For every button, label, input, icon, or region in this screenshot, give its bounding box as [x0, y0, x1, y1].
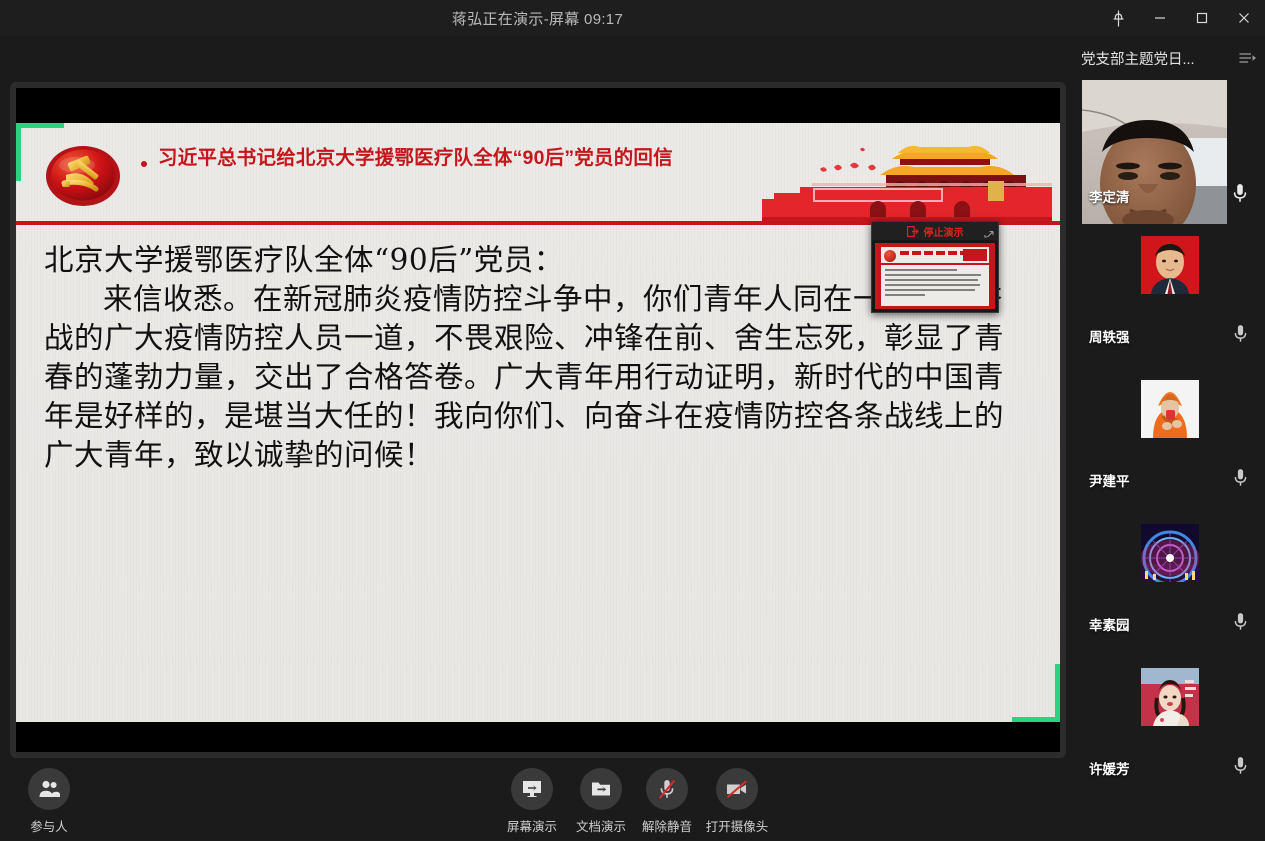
- microphone-icon: [1234, 324, 1247, 348]
- list-menu-icon[interactable]: [1235, 52, 1257, 64]
- microphone-icon: [1234, 612, 1247, 636]
- screen-share-icon: [511, 768, 553, 810]
- avatar: [1141, 524, 1199, 582]
- participant-name: 周轶强: [1089, 326, 1130, 346]
- participant-tile[interactable]: 李定清: [1075, 80, 1265, 224]
- meeting-window: 蒋弘正在演示-屏幕 09:17: [0, 0, 1265, 841]
- participant-panel: 党支部主题党日...: [1075, 36, 1265, 841]
- participant-name: 幸素园: [1089, 614, 1130, 634]
- participant-name: 李定清: [1089, 186, 1130, 206]
- thumbnail-divider: [881, 263, 989, 265]
- stop-share-bar[interactable]: 停止演示: [872, 222, 998, 240]
- avatar: [1141, 668, 1199, 726]
- letterbox-bottom: [16, 722, 1060, 752]
- thumbnail-title: [900, 251, 963, 255]
- thumbnail-text-lines: [885, 269, 985, 299]
- exit-share-icon: [907, 226, 919, 237]
- shared-screen-stage: 习近平总书记给北京大学援鄂医疗队全体“90后”党员的回信 北京大学援鄂医疗队全体…: [10, 82, 1066, 758]
- presentation-slide: 习近平总书记给北京大学援鄂医疗队全体“90后”党员的回信 北京大学援鄂医疗队全体…: [16, 123, 1060, 722]
- window-title: 蒋弘正在演示-屏幕 09:17: [0, 0, 1075, 36]
- microphone-icon: [1234, 468, 1247, 492]
- party-emblem-icon: [44, 145, 122, 207]
- microphone-muted-icon: [646, 768, 688, 810]
- title-bar: 蒋弘正在演示-屏幕 09:17: [0, 0, 1265, 36]
- participant-tile[interactable]: 尹建平: [1075, 368, 1265, 512]
- stop-share-widget[interactable]: 停止演示: [871, 221, 999, 313]
- stop-share-label: 停止演示: [924, 224, 964, 239]
- camera-off-icon: [716, 768, 758, 810]
- minimize-icon[interactable]: [1149, 7, 1171, 29]
- avatar: [1141, 236, 1199, 294]
- participants-label: 参与人: [30, 816, 68, 835]
- slide-header: 习近平总书记给北京大学援鄂医疗队全体“90后”党员的回信: [16, 123, 1060, 225]
- thumbnail-illustration: [963, 249, 987, 261]
- maximize-icon[interactable]: [1191, 7, 1213, 29]
- participant-tile[interactable]: 周轶强: [1075, 224, 1265, 368]
- meeting-toolbar: 参与人 屏幕演示 文档演示: [0, 758, 1075, 841]
- share-thumbnail: [875, 243, 995, 309]
- tiananmen-illustration: [722, 131, 1052, 223]
- participant-name: 许媛芳: [1089, 758, 1130, 778]
- thumbnail-emblem-icon: [884, 250, 896, 262]
- folder-share-icon: [580, 768, 622, 810]
- people-icon: [28, 768, 70, 810]
- avatar: [1141, 380, 1199, 438]
- shared-content: 习近平总书记给北京大学援鄂医疗队全体“90后”党员的回信 北京大学援鄂医疗队全体…: [16, 88, 1060, 752]
- microphone-icon: [1233, 183, 1247, 208]
- participant-list[interactable]: 李定清: [1075, 80, 1265, 841]
- camera-button[interactable]: 打开摄像头: [694, 768, 780, 835]
- expand-icon[interactable]: [984, 225, 994, 243]
- panel-header: 党支部主题党日...: [1075, 36, 1265, 80]
- participant-tile[interactable]: 幸素园: [1075, 512, 1265, 656]
- letterbox-top: [16, 88, 1060, 123]
- meeting-name: 党支部主题党日...: [1081, 48, 1235, 69]
- participants-button[interactable]: 参与人: [6, 768, 92, 835]
- pin-icon[interactable]: [1107, 7, 1129, 29]
- screen-share-label: 屏幕演示: [507, 816, 557, 835]
- share-bracket-bottom-right: [1012, 664, 1060, 722]
- participant-tile[interactable]: 许媛芳: [1075, 656, 1265, 800]
- slide-title: 习近平总书记给北京大学援鄂医疗队全体“90后”党员的回信: [158, 147, 678, 171]
- close-icon[interactable]: [1233, 7, 1255, 29]
- camera-label: 打开摄像头: [706, 816, 769, 835]
- window-controls: [1075, 0, 1265, 36]
- microphone-icon: [1234, 756, 1247, 780]
- unmute-label: 解除静音: [642, 816, 692, 835]
- title-bullet-dot: [141, 161, 147, 167]
- document-share-label: 文档演示: [576, 816, 626, 835]
- participant-name: 尹建平: [1089, 470, 1130, 490]
